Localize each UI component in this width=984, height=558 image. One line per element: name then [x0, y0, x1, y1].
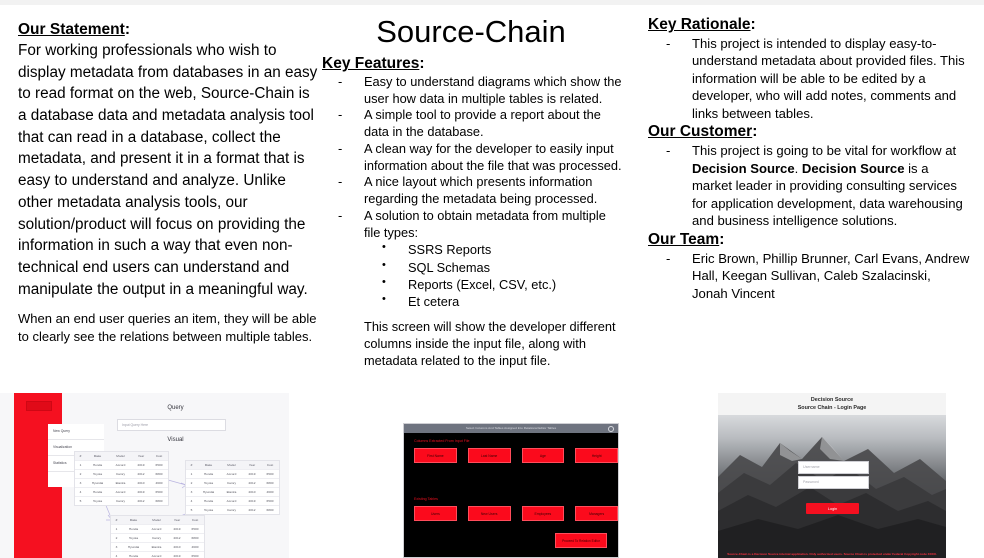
list-item: Et cetera: [320, 293, 622, 310]
table-row: 4 Honda Accord 2019 6500: [186, 496, 279, 505]
cell: 6800: [150, 497, 168, 505]
col-header: Model: [220, 461, 243, 469]
col-header: Year: [132, 452, 150, 460]
our-team-heading-text: Our Team: [648, 231, 719, 248]
cell: 2012: [132, 497, 150, 505]
key-features-heading: Key Features:: [322, 55, 622, 73]
cell: 4600: [186, 543, 204, 551]
password-field[interactable]: Password: [798, 476, 869, 489]
middle-column: Source-Chain Key Features: Easy to under…: [320, 5, 622, 369]
list-item: This project is intended to display easy…: [648, 35, 970, 123]
cell: 6800: [150, 470, 168, 478]
cell: Accord: [109, 461, 132, 469]
cell: Toyota: [122, 534, 145, 542]
our-customer-heading-colon: :: [752, 123, 757, 140]
brand-decision-source-2: Decision Source: [802, 161, 905, 176]
screenshot-column-selector-app: Select Columns And Tables Assigned Into …: [403, 423, 619, 558]
list-item: A clean way for the developer to easily …: [320, 141, 622, 175]
col-header: Cost: [186, 516, 204, 524]
col-header: Make: [197, 461, 220, 469]
column-button-row: First Name Last Name Age Height: [414, 448, 618, 463]
cell: 4600: [150, 479, 168, 487]
cell: Toyota: [86, 470, 109, 478]
col-header: Year: [168, 516, 186, 524]
file-types-list: SSRS Reports SQL Schemas Reports (Excel,…: [320, 241, 622, 310]
our-customer-heading-text: Our Customer: [648, 123, 752, 140]
cell: 2019: [243, 497, 261, 505]
col-header: #: [111, 516, 122, 524]
query-input[interactable]: Input Query Here: [117, 419, 226, 431]
table-row: 1 Honda Accord 2019 6500: [75, 460, 168, 469]
our-statement-heading-colon: :: [125, 21, 130, 38]
brand-decision-source-1: Decision Source: [692, 161, 795, 176]
cell: 6800: [186, 534, 204, 542]
table-row: 3 Hyundai Elantra 2010 4600: [186, 487, 279, 496]
left-column: Our Statement: For working professionals…: [18, 5, 318, 346]
table-row: 5 Toyota Camry 2012 6800: [75, 496, 168, 505]
login-hero-image: Username Password Login Source-Chain is …: [718, 415, 946, 558]
cell: 2010: [168, 543, 186, 551]
close-icon[interactable]: [608, 426, 614, 432]
table-row: 2 Toyota Camry 2012 6800: [75, 469, 168, 478]
table-row-group: # Make Model Year Cost 1 Honda Accord 20…: [74, 451, 169, 506]
page-title: Source-Chain: [320, 15, 622, 49]
key-features-heading-colon: :: [419, 55, 424, 72]
cell: Accord: [145, 525, 168, 533]
cell: Accord: [220, 470, 243, 478]
cell: Honda: [86, 461, 109, 469]
table-button-managers[interactable]: Managers: [575, 506, 618, 521]
list-item: A solution to obtain metadata from multi…: [320, 208, 622, 242]
cell: Camry: [109, 497, 132, 505]
col-header: Cost: [261, 461, 279, 469]
login-page-header: Decision Source Source Chain - Login Pag…: [718, 393, 946, 415]
cell: Hyundai: [122, 543, 145, 551]
screen-note: This screen will show the developer diff…: [364, 318, 622, 369]
cell: Elantra: [220, 488, 243, 496]
table-row-group: # Make Model Year Cost 1 Honda Accord 20…: [110, 515, 205, 558]
list-item: Reports (Excel, CSV, etc.): [320, 276, 622, 293]
key-features-heading-text: Key Features: [322, 55, 419, 72]
col-header: Make: [122, 516, 145, 524]
list-item: Easy to understand diagrams which show t…: [320, 74, 622, 108]
cell: 5: [186, 506, 197, 514]
list-item: A nice layout which presents information…: [320, 174, 622, 208]
cell: 2012: [132, 470, 150, 478]
cell: 2012: [243, 506, 261, 514]
cell: 2019: [132, 461, 150, 469]
cell: Camry: [145, 534, 168, 542]
cell: 2010: [243, 488, 261, 496]
cell: 4: [186, 497, 197, 505]
table-button-employees[interactable]: Employees: [522, 506, 565, 521]
cell: 2: [186, 479, 197, 487]
username-field[interactable]: Username: [798, 461, 869, 474]
cell: 6800: [261, 506, 279, 514]
section-tables-label: Existing Tables: [414, 497, 618, 501]
table-row: 3 Hyundai Elantra 2010 4600: [111, 542, 204, 551]
our-team-heading: Our Team:: [648, 231, 970, 249]
visual-heading: Visual: [62, 437, 289, 443]
cell: Hyundai: [86, 479, 109, 487]
screenshot-login-page: Decision Source Source Chain - Login Pag…: [718, 393, 946, 558]
our-customer-list: This project is going to be vital for wo…: [648, 142, 970, 230]
table-header-row: # Make Model Year Cost: [186, 461, 279, 469]
col-header: Year: [243, 461, 261, 469]
cell: 5: [75, 497, 86, 505]
cell: 2012: [243, 479, 261, 487]
login-title-line-1: Decision Source: [718, 396, 946, 404]
cell: 1: [186, 470, 197, 478]
cell: 6800: [261, 479, 279, 487]
cell: Toyota: [86, 497, 109, 505]
cell: Camry: [109, 470, 132, 478]
password-placeholder: Password: [799, 477, 868, 484]
table-row: 3 Hyundai Elantra 2010 4600: [75, 478, 168, 487]
cell: 3: [186, 488, 197, 496]
cell: 2019: [132, 488, 150, 496]
our-team-list: Eric Brown, Phillip Brunner, Carl Evans,…: [648, 250, 970, 303]
col-header: Make: [86, 452, 109, 460]
table-row: 5 Toyota Camry 2012 6800: [186, 505, 279, 514]
cell: Elantra: [109, 479, 132, 487]
col-header: #: [75, 452, 86, 460]
username-placeholder: Username: [799, 462, 868, 469]
cell: 6500: [261, 470, 279, 478]
cell: 3: [75, 479, 86, 487]
cell: 2019: [168, 525, 186, 533]
table-row: 1 Honda Accord 2019 6500: [111, 524, 204, 533]
our-statement-heading-text: Our Statement: [18, 21, 125, 38]
key-features-list: Easy to understand diagrams which show t…: [320, 74, 622, 242]
login-footer-text: Source-Chain is a Decision Source intern…: [718, 552, 946, 556]
app-title-bar: Select Columns And Tables Assigned Into …: [404, 424, 618, 433]
key-rationale-heading-text: Key Rationale: [648, 16, 751, 33]
cell: 6500: [261, 497, 279, 505]
our-customer-heading: Our Customer:: [648, 123, 970, 141]
cell: 2019: [243, 470, 261, 478]
cell: Elantra: [145, 543, 168, 551]
column-button-last-name[interactable]: Last Name: [468, 448, 511, 463]
cell: 1: [75, 461, 86, 469]
our-statement-heading: Our Statement:: [18, 21, 318, 39]
cell: Toyota: [197, 479, 220, 487]
table-row: 2 Toyota Camry 2012 6800: [111, 533, 204, 542]
col-header: Model: [145, 516, 168, 524]
customer-text-2: .: [795, 161, 802, 176]
table-row: 2 Toyota Camry 2012 6800: [186, 478, 279, 487]
cell: Camry: [220, 479, 243, 487]
cell: 3: [111, 543, 122, 551]
proceed-to-relation-editor-button[interactable]: Proceed To Relation Editor: [555, 533, 607, 548]
our-team-heading-colon: :: [719, 231, 724, 248]
key-rationale-list: This project is intended to display easy…: [648, 35, 970, 123]
our-statement-paragraph-2: When an end user queries an item, they w…: [18, 310, 318, 345]
customer-text-1: This project is going to be vital for wo…: [692, 143, 956, 158]
cell: Accord: [220, 497, 243, 505]
table-header-row: # Make Model Year Cost: [75, 452, 168, 460]
cell: Camry: [220, 506, 243, 514]
cell: Accord: [109, 488, 132, 496]
table-row: 4 Honda Accord 2019 6500: [75, 487, 168, 496]
table-button-row: Users New Users Employees Managers: [414, 506, 618, 521]
cell: Honda: [122, 525, 145, 533]
cell: Honda: [86, 488, 109, 496]
cell: Honda: [197, 470, 220, 478]
table-button-users[interactable]: Users: [414, 506, 457, 521]
col-header: Model: [109, 452, 132, 460]
list-item: This project is going to be vital for wo…: [648, 142, 970, 230]
section-columns-label: Columns Extracted From Input File: [414, 439, 618, 443]
table-row-group: # Make Model Year Cost 1 Honda Accord 20…: [185, 460, 280, 515]
column-button-first-name[interactable]: First Name: [414, 448, 457, 463]
cell: 1: [111, 525, 122, 533]
key-rationale-heading: Key Rationale:: [648, 16, 970, 34]
login-button[interactable]: Login: [806, 503, 859, 514]
cell: 6500: [150, 461, 168, 469]
table-header-row: # Make Model Year Cost: [111, 516, 204, 524]
poster-canvas: Our Statement: For working professionals…: [0, 5, 984, 553]
list-item: A simple tool to provide a report about …: [320, 107, 622, 141]
list-item: SSRS Reports: [320, 241, 622, 258]
table-button-new-users[interactable]: New Users: [468, 506, 511, 521]
col-header: Cost: [150, 452, 168, 460]
cell: 4: [75, 488, 86, 496]
column-button-height[interactable]: Height: [575, 448, 618, 463]
col-header: #: [186, 461, 197, 469]
right-column: Key Rationale: This project is intended …: [648, 5, 970, 302]
cell: Hyundai: [197, 488, 220, 496]
cell: Honda: [197, 497, 220, 505]
login-title-line-2: Source Chain - Login Page: [718, 404, 946, 412]
screenshot-query-app: New Query Visualization Statistics Query…: [0, 393, 289, 558]
query-heading: Query: [62, 405, 289, 411]
list-item: SQL Schemas: [320, 259, 622, 276]
cell: 6500: [186, 525, 204, 533]
query-input-placeholder: Input Query Here: [118, 420, 225, 427]
cell: 2010: [132, 479, 150, 487]
query-app-logo: [26, 401, 52, 411]
table-row: 1 Honda Accord 2019 6500: [186, 469, 279, 478]
app-window-title: Select Columns And Tables Assigned Into …: [404, 424, 618, 433]
our-statement-paragraph-1: For working professionals who wish to di…: [18, 40, 318, 301]
key-rationale-heading-colon: :: [751, 16, 756, 33]
cell: 2: [111, 534, 122, 542]
cell: 2012: [168, 534, 186, 542]
cell: 2: [75, 470, 86, 478]
column-button-age[interactable]: Age: [522, 448, 565, 463]
table-row: 4 Honda Accord 2019 6500: [111, 551, 204, 558]
cell: Toyota: [197, 506, 220, 514]
list-item: Eric Brown, Phillip Brunner, Carl Evans,…: [648, 250, 970, 303]
cell: 6500: [150, 488, 168, 496]
cell: 4600: [261, 488, 279, 496]
